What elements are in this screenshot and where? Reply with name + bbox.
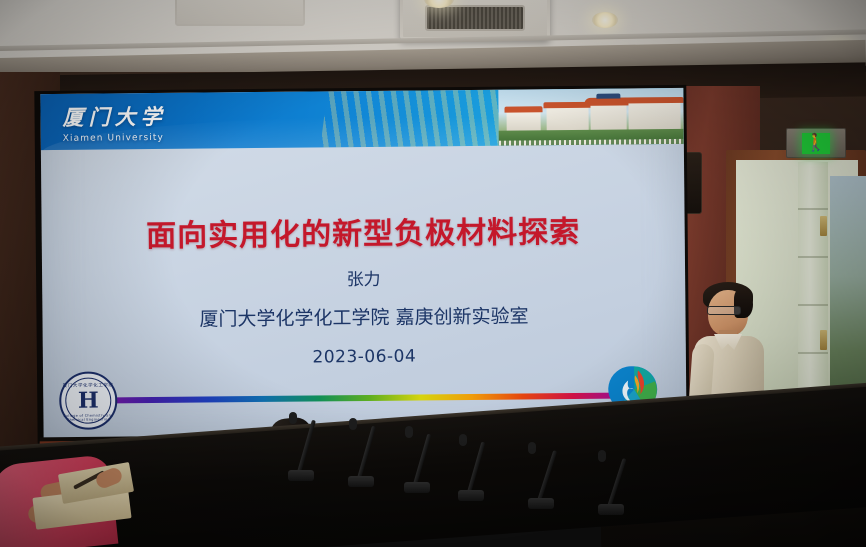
slide-author: 张力 [42,262,685,293]
campus-main-hall [590,104,626,130]
slide-body: 面向实用化的新型负极材料探索 张力 厦门大学化学化工学院 嘉庚创新实验室 202… [41,144,687,443]
seal-arc-bottom-text: College of Chemistry and Chemical Engine… [61,413,115,422]
microphone-head [405,426,413,438]
university-name-en: Xiamen University [63,133,167,144]
campus-photo [498,88,684,146]
slide-title: 面向实用化的新型负极材料探索 [41,206,684,256]
campus-building [507,111,541,131]
campus-pagoda-roof-top [596,94,620,99]
microphone-base [528,498,554,509]
microphone-head [349,418,357,430]
slide-rainbow-divider [105,393,614,404]
seal-letter: H [61,389,115,412]
projection-screen: 厦门大学 Xiamen University 面向实用化的新型负极材料探索 张力… [40,88,686,443]
ceiling-downlight [592,12,618,28]
xmu-college-seal: 厦门大学化学化工学院 H College of Chemistry and Ch… [59,371,118,430]
microphone-head [598,450,606,462]
slide-affiliation: 厦门大学化学化工学院 嘉庚创新实验室 [42,300,685,333]
ceiling-air-conditioner-vent [400,0,550,40]
microphone-head [289,412,297,424]
slide-banner: 厦门大学 Xiamen University [40,88,684,150]
emergency-exit-sign: 🚶 [786,128,846,158]
glasses-icon [707,306,741,315]
campus-building [546,107,588,131]
campus-building [628,102,680,130]
university-name-cn: 厦门大学 [62,101,166,132]
door-hinge-icon [820,216,827,236]
microphone-head [528,442,536,454]
microphone-base [598,504,624,515]
door-hinge-icon [820,330,827,350]
ceiling-panel [175,0,305,26]
microphone-head [459,434,467,446]
photo-scene: 🚶 厦门大学 Xiamen Unive [0,0,866,547]
exit-sign-lamp: 🚶 [802,133,830,154]
running-person-icon: 🚶 [805,135,826,152]
xiamen-university-logo: 厦门大学 Xiamen University [62,101,166,144]
microphone-base [288,470,314,481]
microphone-base [404,482,430,493]
microphone-base [348,476,374,487]
slide-date: 2023-06-04 [43,344,686,370]
campus-roof [625,97,683,104]
microphone-base [458,490,484,501]
campus-roof [504,106,542,112]
